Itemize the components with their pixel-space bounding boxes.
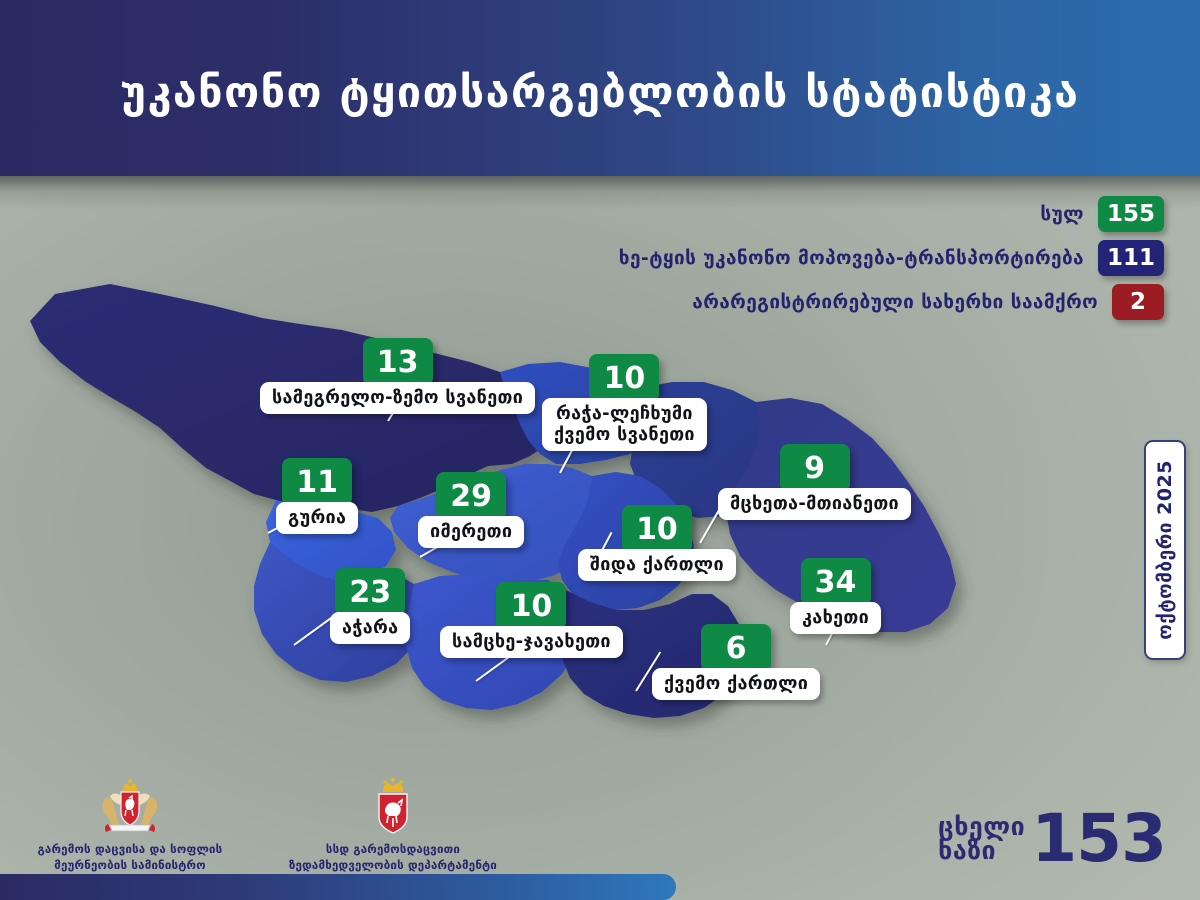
marker-value-ajara: 23 [335, 568, 405, 616]
marker-value-mtskheta: 9 [780, 444, 850, 492]
marker-label-guria: გურია [276, 502, 358, 534]
legend-value-total: 155 [1098, 196, 1164, 232]
legend: სულ 155 ხე-ტყის უკანონო მოპოვება-ტრანსპო… [619, 196, 1164, 320]
legend-value-unregistered-sawmill: 2 [1112, 284, 1164, 320]
marker-label-kakheti: კახეთი [790, 602, 881, 634]
legend-label-total: სულ [1040, 203, 1084, 225]
marker-samtskhe-javakheti[interactable]: 10 სამცხე-ჯავახეთი [440, 582, 623, 658]
marker-value-imereti: 29 [436, 472, 506, 520]
organization-supervision-department: სსდ გარემოსდაცვითი ზედამხედველობის დეპარ… [268, 777, 518, 874]
marker-value-shida-kartli: 10 [622, 505, 692, 553]
marker-kakheti[interactable]: 34 კახეთი [790, 558, 881, 634]
marker-value-kvemo-kartli: 6 [701, 624, 771, 672]
hotline-number: 153 [1031, 812, 1166, 866]
marker-label-samegrelo: სამეგრელო-ზემო სვანეთი [260, 382, 535, 414]
marker-ajara[interactable]: 23 აჭარა [330, 568, 410, 644]
marker-samegrelo-zemo-svaneti[interactable]: 13 სამეგრელო-ზემო სვანეთი [260, 338, 535, 414]
marker-mtskheta-mtianeti[interactable]: 9 მცხეთა-მთიანეთი [718, 444, 911, 520]
marker-value-kakheti: 34 [801, 558, 871, 606]
marker-value-samtskhe: 10 [496, 582, 566, 630]
page-title: უკანონო ტყითსარგებლობის სტატისტიკა [121, 68, 1080, 118]
marker-label-mtskheta: მცხეთა-მთიანეთი [718, 488, 911, 520]
organization-ministry: გარემოს დაცვისა და სოფლის მეურნეობის სამ… [20, 777, 240, 874]
marker-kvemo-kartli[interactable]: 6 ქვემო ქართლი [652, 624, 820, 700]
legend-row-illegal-logging: ხე-ტყის უკანონო მოპოვება-ტრანსპორტირება … [619, 240, 1164, 276]
marker-guria[interactable]: 11 გურია [276, 458, 358, 534]
legend-label-unregistered-sawmill: არარეგისტრირებული სახერხი საამქრო [692, 291, 1098, 313]
marker-label-kvemo-kartli: ქვემო ქართლი [652, 668, 820, 700]
marker-shida-kartli[interactable]: 10 შიდა ქართლი [578, 505, 736, 581]
marker-label-samtskhe: სამცხე-ჯავახეთი [440, 626, 623, 658]
marker-label-ajara: აჭარა [330, 612, 410, 644]
georgia-coat-of-arms-icon [98, 777, 162, 835]
bottom-accent-bar [0, 874, 676, 900]
marker-label-imereti: იმერეთი [418, 516, 524, 548]
marker-label-shida-kartli: შიდა ქართლი [578, 549, 736, 581]
marker-value-samegrelo: 13 [363, 338, 433, 386]
legend-value-illegal-logging: 111 [1098, 240, 1164, 276]
marker-racha-lechkhumi[interactable]: 10 რაჭა-ლეჩხუმი ქვემო სვანეთი [542, 354, 707, 451]
marker-value-racha: 10 [589, 354, 659, 402]
environmental-supervision-emblem-icon [368, 777, 418, 835]
date-tab: ოქტომბერი 2025 [1144, 440, 1186, 660]
organization-supervision-caption: სსდ გარემოსდაცვითი ზედამხედველობის დეპარ… [268, 841, 518, 874]
hotline: ცხელი ხაზი 153 [938, 812, 1166, 866]
hotline-label: ცხელი ხაზი [938, 815, 1025, 863]
legend-row-total: სულ 155 [1040, 196, 1164, 232]
marker-imereti[interactable]: 29 იმერეთი [418, 472, 524, 548]
date-tab-label: ოქტომბერი 2025 [1154, 460, 1176, 640]
header-banner: უკანონო ტყითსარგებლობის სტატისტიკა [0, 0, 1200, 176]
legend-label-illegal-logging: ხე-ტყის უკანონო მოპოვება-ტრანსპორტირება [619, 247, 1084, 269]
marker-label-racha: რაჭა-ლეჩხუმი ქვემო სვანეთი [542, 398, 707, 451]
marker-value-guria: 11 [282, 458, 352, 506]
legend-row-unregistered-sawmill: არარეგისტრირებული სახერხი საამქრო 2 [692, 284, 1164, 320]
organization-ministry-caption: გარემოს დაცვისა და სოფლის მეურნეობის სამ… [20, 841, 240, 874]
